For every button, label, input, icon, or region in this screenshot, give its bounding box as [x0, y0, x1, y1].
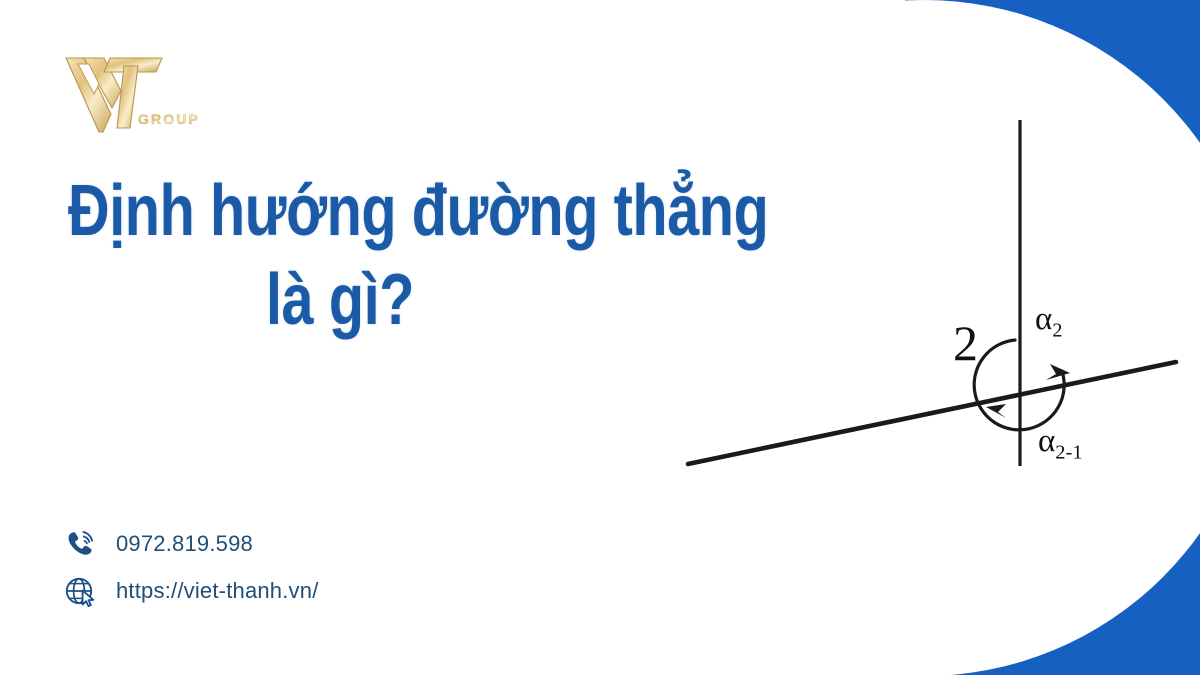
- diagram-angle-alpha2-1-label: α2-1: [1038, 425, 1083, 463]
- contact-block: 0972.819.598 https://viet-thanh.vn/: [63, 520, 319, 614]
- contact-row-phone[interactable]: 0972.819.598: [63, 520, 319, 567]
- arrowhead-lower-left: [986, 404, 1006, 418]
- circular-angle-arc: [974, 340, 1064, 430]
- page-title-line-1: Định hướng đường thẳng: [68, 176, 612, 247]
- poster-canvas: GROUP Định hướng đường thẳng là gì? 0972…: [0, 0, 1200, 675]
- page-title: Định hướng đường thẳng là gì?: [0, 176, 680, 335]
- phone-number-text: 0972.819.598: [116, 531, 253, 557]
- diagram-station-label: 2: [953, 318, 978, 368]
- vt-group-logo[interactable]: GROUP: [58, 52, 198, 144]
- logo-t-stem: [117, 66, 138, 128]
- logo-group-text: GROUP: [138, 111, 198, 127]
- phone-call-icon: [63, 527, 97, 561]
- slanted-survey-line: [688, 362, 1176, 464]
- website-url-text: https://viet-thanh.vn/: [116, 578, 319, 604]
- alpha-subscript-lower: 2-1: [1055, 442, 1082, 464]
- diagram-angle-alpha2-label: α2: [1035, 303, 1063, 341]
- alpha-symbol-upper: α: [1035, 301, 1052, 337]
- alpha-symbol-lower: α: [1038, 423, 1055, 459]
- page-title-line-2: là gì?: [68, 265, 612, 336]
- alpha-subscript-upper: 2: [1052, 320, 1062, 342]
- arrowhead-upper-right: [1046, 364, 1070, 380]
- contact-row-website[interactable]: https://viet-thanh.vn/: [63, 567, 319, 614]
- globe-cursor-icon: [63, 574, 97, 608]
